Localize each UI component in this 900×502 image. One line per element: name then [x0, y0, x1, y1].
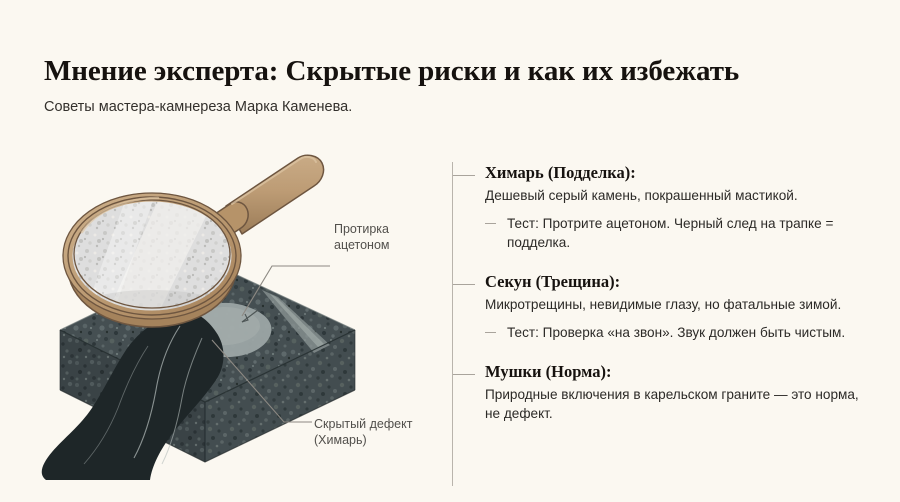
point-dash-icon — [453, 175, 475, 176]
test-dash-icon — [485, 332, 496, 333]
point-heading: Химарь (Подделка): — [485, 162, 864, 183]
point-test: Тест: Проверка «на звон». Звук должен бы… — [485, 323, 847, 342]
point-item-sekun: Секун (Трещина): Микротрещины, невидимые… — [452, 271, 864, 342]
header: Мнение эксперта: Скрытые риски и как их … — [44, 54, 864, 117]
point-heading: Мушки (Норма): — [485, 361, 864, 382]
page-title: Мнение эксперта: Скрытые риски и как их … — [44, 54, 864, 88]
point-test-text: Тест: Протрите ацетоном. Черный след на … — [507, 216, 833, 250]
test-dash-icon — [485, 223, 496, 224]
points-list: Химарь (Подделка): Дешевый серый камень,… — [452, 162, 864, 423]
illustration: Протирка ацетоном Скрытый дефект (Химарь… — [30, 140, 450, 480]
point-dash-icon — [453, 284, 475, 285]
point-item-himar: Химарь (Подделка): Дешевый серый камень,… — [452, 162, 864, 252]
point-dash-icon — [453, 374, 475, 375]
point-item-mushki: Мушки (Норма): Природные включения в кар… — [452, 361, 864, 423]
page-subtitle: Советы мастера-камнереза Марка Каменева. — [44, 97, 864, 117]
point-body: Природные включения в карельском граните… — [485, 385, 864, 423]
point-test-text: Тест: Проверка «на звон». Звук должен бы… — [507, 325, 845, 340]
point-test: Тест: Протрите ацетоном. Черный след на … — [485, 214, 847, 252]
callout-acetone-label: Протирка ацетоном — [334, 221, 390, 253]
point-body: Микротрещины, невидимые глазу, но фаталь… — [485, 295, 864, 314]
point-heading: Секун (Трещина): — [485, 271, 864, 292]
point-body: Дешевый серый камень, покрашенный мастик… — [485, 186, 864, 205]
infographic-root: Мнение эксперта: Скрытые риски и как их … — [0, 0, 900, 502]
callout-defect-label: Скрытый дефект (Химарь) — [314, 416, 412, 448]
